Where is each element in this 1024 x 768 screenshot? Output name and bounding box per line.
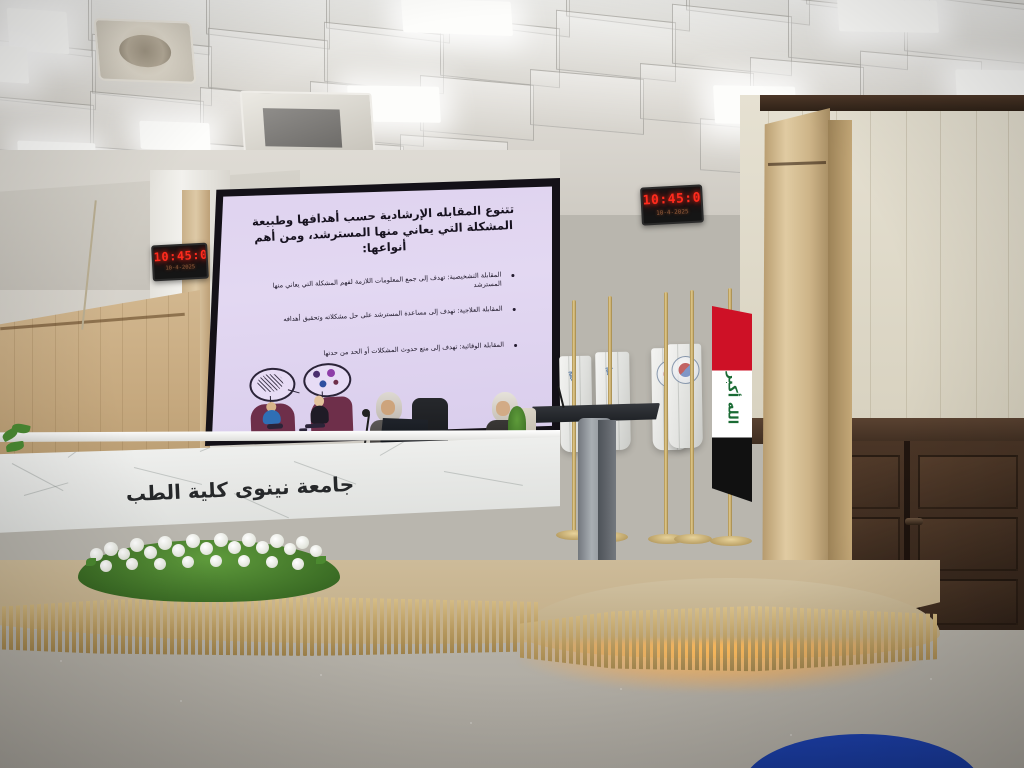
wood-pillar-right-inner [828, 120, 852, 630]
digital-clock-left: 10:45:05 10-4-2025 [151, 243, 209, 282]
clock-time: 10:45:05 [153, 248, 206, 265]
slide-title: تتنوع المقابله الإرشادية حسب أهدافها وطب… [237, 201, 531, 263]
slide-bullet: المقابلة العلاجية: تهدف إلى مساعدة المست… [253, 305, 503, 326]
university-seal-banner [667, 344, 703, 449]
clock-time: 10:45:01 [642, 191, 701, 209]
white-rose-arrangement [84, 528, 336, 574]
led-panel-light [837, 0, 939, 33]
counseling-illustration [247, 363, 370, 438]
dark-beam-top [760, 95, 1024, 111]
slide-bullet: المقابلة التشخيصية: تهدف إلى جمع المعلوم… [251, 271, 501, 301]
flag-pole [664, 292, 668, 536]
iraq-flag-stand [710, 536, 752, 546]
led-panel-light [139, 121, 210, 152]
led-panel-light [0, 44, 29, 84]
flag-pole [690, 290, 694, 536]
led-panel-light [401, 0, 513, 36]
flag-stand [674, 534, 712, 544]
potted-plant [0, 424, 36, 470]
university-seal-icon [671, 356, 699, 384]
exhaust-fan-icon [93, 18, 196, 84]
door-handle[interactable] [905, 518, 923, 525]
iraq-flag: الله أكبر [712, 306, 752, 502]
lecture-hall-photo: تتنوع المقابله الإرشادية حسب أهدافها وطب… [0, 0, 1024, 768]
digital-clock-right: 10:45:01 10-4-2025 [640, 184, 704, 225]
slide-bullet: المقابلة الوقائية: تهدف إلى منع حدوث الم… [254, 341, 504, 362]
microphone-icon [362, 409, 370, 417]
clock-date: 10-4-2025 [643, 207, 701, 217]
clock-date: 10-4-2025 [154, 264, 206, 273]
iraq-flag-text: الله أكبر [725, 372, 740, 424]
stage-slat-fascia-left [0, 596, 540, 656]
